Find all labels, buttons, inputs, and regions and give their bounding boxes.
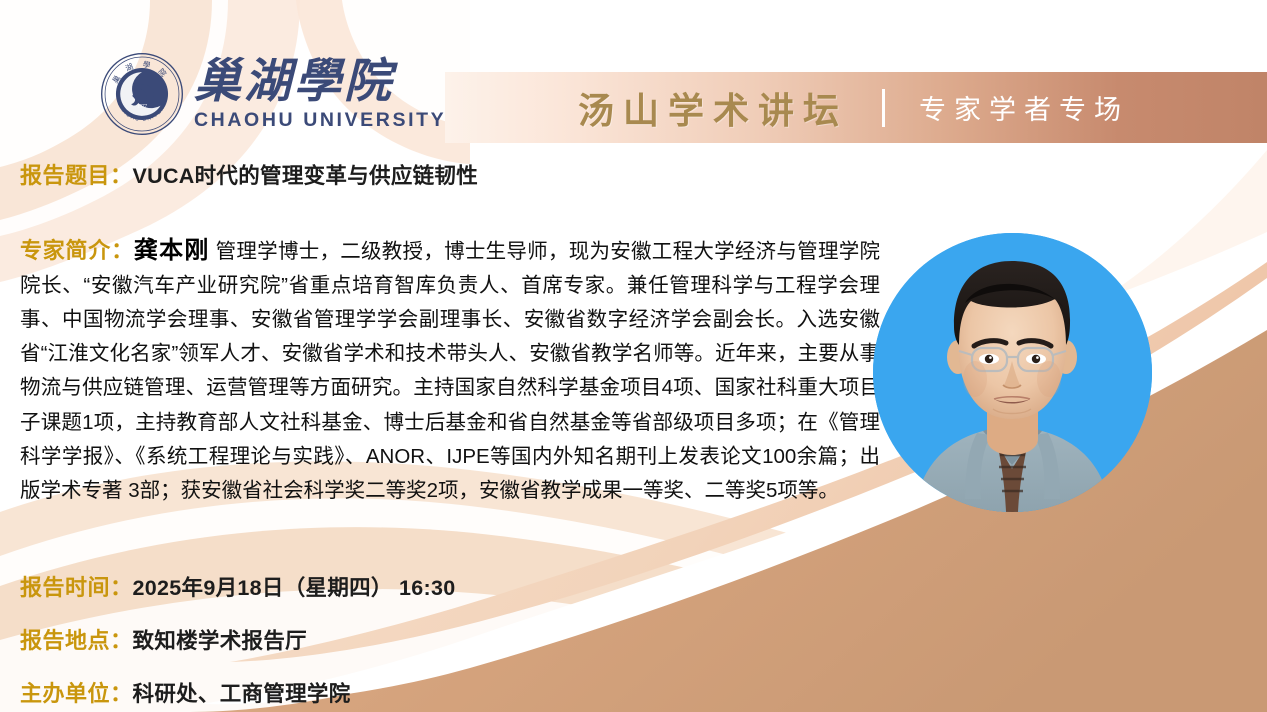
lecture-place-label: 报告地点： (20, 623, 133, 655)
expert-bio-text: 管理学博士，二级教授，博士生导师，现为安徽工程大学经济与管理学院院长、“安徽汽车… (20, 240, 880, 502)
expert-bio-label: 专家简介： (20, 238, 134, 263)
expert-bio-row: 专家简介：龚本刚 管理学博士，二级教授，博士生导师，现为安徽工程大学经济与管理学… (20, 213, 880, 529)
lecture-host-row: 主办单位： 科研处、工商管理学院 (20, 676, 351, 708)
lecture-title-label: 报告题目： (20, 158, 133, 190)
university-name-cn: 巢湖學院 (194, 59, 394, 106)
lecture-host-value: 科研处、工商管理学院 (133, 677, 351, 708)
expert-bio-paragraph: 专家简介：龚本刚 管理学博士，二级教授，博士生导师，现为安徽工程大学经济与管理学… (20, 234, 880, 509)
lecture-place-value: 致知楼学术报告厅 (133, 624, 307, 655)
university-logo: 1977 巢 湖 學 院 CHAOHU UNIVERSITY 巢湖學院 CHAO… (100, 52, 446, 136)
lecture-time-value: 2025年9月18日（星期四） 16:30 (133, 571, 456, 602)
lecture-poster: 1977 巢 湖 學 院 CHAOHU UNIVERSITY 巢湖學院 CHAO… (0, 0, 1267, 712)
lecture-title-value: VUCA时代的管理变革与供应链韧性 (133, 159, 479, 190)
lecture-place-row: 报告地点： 致知楼学术报告厅 (20, 623, 307, 655)
forum-title: 汤山学术讲坛 (578, 82, 848, 134)
expert-name: 龚本刚 (134, 237, 210, 264)
forum-subtitle: 专家学者专场 (919, 88, 1129, 127)
speaker-portrait-image (873, 233, 1152, 512)
chaohu-university-seal-icon: 1977 巢 湖 學 院 CHAOHU UNIVERSITY (100, 52, 184, 136)
lecture-title-row: 报告题目： VUCA时代的管理变革与供应链韧性 (20, 158, 478, 190)
lecture-time-row: 报告时间： 2025年9月18日（星期四） 16:30 (20, 570, 455, 602)
speaker-portrait (873, 233, 1152, 512)
university-name-en: CHAOHU UNIVERSITY (194, 109, 446, 132)
university-wordmark: 巢湖學院 CHAOHU UNIVERSITY (194, 59, 446, 132)
svg-text:1977: 1977 (137, 103, 148, 109)
forum-banner: 汤山学术讲坛 专家学者专场 (445, 72, 1267, 143)
lecture-time-label: 报告时间： (20, 570, 133, 602)
lecture-host-label: 主办单位： (20, 676, 133, 708)
banner-divider-icon (882, 89, 885, 127)
poster-header: 1977 巢 湖 學 院 CHAOHU UNIVERSITY 巢湖學院 CHAO… (0, 0, 1267, 150)
